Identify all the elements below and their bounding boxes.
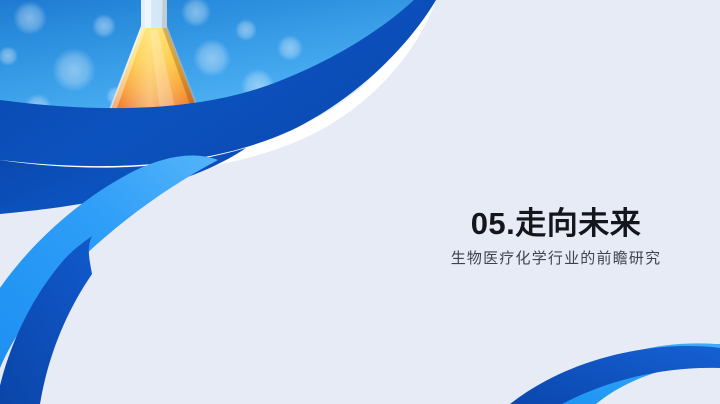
page-subtitle: 生物医疗化学行业的前瞻研究 [420, 249, 692, 269]
flask-neck [141, 0, 167, 28]
page-title: 05.走向未来 [420, 206, 692, 243]
flask-neck-highlight [145, 0, 151, 28]
slide-text-block: 05.走向未来 生物医疗化学行业的前瞻研究 [420, 206, 692, 268]
presentation-slide: 05.走向未来 生物医疗化学行业的前瞻研究 [0, 0, 720, 404]
slide-decoration-graphics [0, 0, 720, 404]
